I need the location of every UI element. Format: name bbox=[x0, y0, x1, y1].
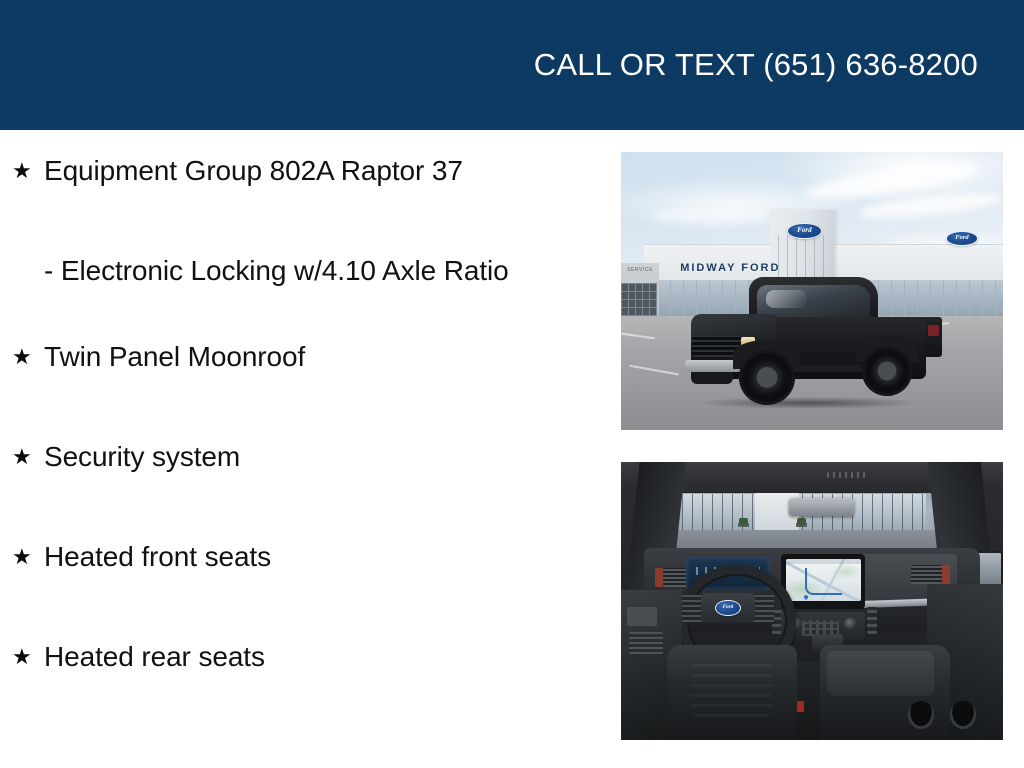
rear-wheel bbox=[862, 346, 913, 395]
feature-sub-label: - Electronic Locking w/4.10 Axle Ratio bbox=[44, 252, 524, 289]
header-band: CALL OR TEXT (651) 636-8200 bbox=[0, 0, 1024, 130]
vehicle-interior-photo[interactable]: Ford bbox=[621, 462, 1003, 740]
route-line bbox=[805, 568, 841, 594]
seat-control-panel[interactable] bbox=[629, 632, 663, 654]
ford-logo-text: Ford bbox=[723, 605, 733, 610]
vehicle-features-slide: CALL OR TEXT (651) 636-8200 ★ Equipment … bbox=[0, 0, 1024, 768]
list-item: ★ Equipment Group 802A Raptor 37 bbox=[0, 152, 600, 252]
truck-shadow bbox=[696, 397, 921, 409]
list-item: ★ Heated rear seats bbox=[0, 638, 600, 738]
feature-label: Twin Panel Moonroof bbox=[44, 338, 564, 375]
planter bbox=[738, 518, 750, 528]
seatbelt-tag bbox=[797, 701, 805, 712]
feature-label: Security system bbox=[44, 438, 564, 475]
front-wheel bbox=[739, 350, 795, 405]
steering-wheel-hub: Ford bbox=[701, 593, 754, 624]
cup-holder bbox=[950, 701, 977, 729]
dealership-sign-label: MIDWAY FORD bbox=[680, 262, 780, 274]
rearview-mirror bbox=[789, 498, 854, 516]
air-vent-right bbox=[911, 565, 942, 584]
ford-oval-logo-icon: Ford bbox=[715, 600, 741, 616]
feature-list: ★ Equipment Group 802A Raptor 37 - Elect… bbox=[0, 130, 600, 768]
window-switch-panel[interactable] bbox=[627, 607, 658, 626]
planter bbox=[796, 518, 808, 528]
call-or-text-phone-cta[interactable]: CALL OR TEXT (651) 636-8200 bbox=[534, 47, 1024, 83]
vehicle-exterior-photo[interactable]: SERVICE MIDWAY FORD Ford Ford bbox=[621, 152, 1003, 430]
tail-light bbox=[928, 325, 939, 336]
screen-status-bar bbox=[786, 559, 861, 564]
star-bullet-icon: ★ bbox=[12, 638, 44, 672]
list-item: ★ Security system bbox=[0, 438, 600, 538]
list-item: ★ Twin Panel Moonroof bbox=[0, 338, 600, 438]
driver-seat bbox=[667, 645, 797, 740]
ford-logo-text: Ford bbox=[797, 227, 811, 234]
star-bullet-icon: ★ bbox=[12, 338, 44, 372]
list-item: ★ Heated front seats bbox=[0, 538, 600, 638]
raptor-truck bbox=[674, 277, 941, 410]
ford-oval-logo-icon: Ford bbox=[946, 231, 979, 246]
feature-label: Heated front seats bbox=[44, 538, 564, 575]
ford-logo-text: Ford bbox=[955, 235, 968, 242]
accent-trim-right bbox=[942, 565, 950, 584]
overhead-console-icon bbox=[827, 472, 869, 479]
feature-label: Heated rear seats bbox=[44, 638, 564, 675]
screen-side-buttons-right[interactable] bbox=[867, 607, 877, 635]
skid-plate bbox=[691, 372, 734, 384]
steering-wheel-buttons-left[interactable] bbox=[680, 594, 703, 622]
accent-trim-left bbox=[655, 568, 663, 587]
star-bullet-icon: ★ bbox=[12, 438, 44, 472]
feature-label: Equipment Group 802A Raptor 37 bbox=[44, 152, 564, 189]
star-bullet-icon: ★ bbox=[12, 538, 44, 572]
center-touchscreen[interactable] bbox=[786, 559, 861, 601]
cloud bbox=[652, 208, 767, 225]
console-armrest[interactable] bbox=[827, 651, 934, 695]
service-bay-windows bbox=[621, 283, 657, 316]
service-sign-label: SERVICE bbox=[623, 267, 657, 273]
star-bullet-icon: ★ bbox=[12, 152, 44, 186]
ford-oval-logo-icon: Ford bbox=[787, 223, 821, 239]
list-item-sub: - Electronic Locking w/4.10 Axle Ratio bbox=[0, 252, 600, 338]
cup-holder bbox=[908, 701, 935, 729]
